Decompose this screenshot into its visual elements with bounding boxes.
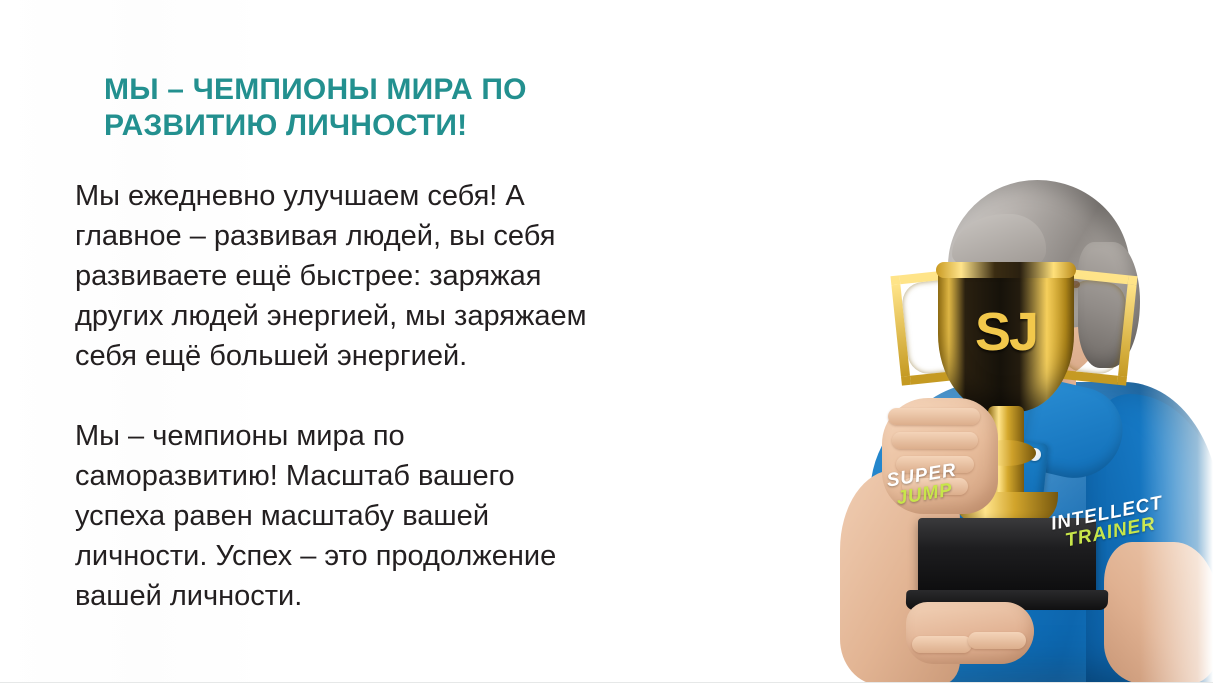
finger-5 [912, 636, 972, 653]
slide-title: МЫ – ЧЕМПИОНЫ МИРА ПО РАЗВИТИЮ ЛИЧНОСТИ! [104, 72, 704, 144]
body-paragraph-2: Мы – чемпионы мира по саморазвитию! Масш… [75, 416, 715, 616]
lower-hand [906, 602, 1034, 664]
trophy-monogram: SJ [958, 300, 1054, 364]
right-arm [1104, 542, 1213, 683]
trophy-cup-rim [936, 262, 1076, 278]
body-paragraph-1: Мы ежедневно улучшаем себя! А главное – … [75, 176, 715, 376]
presentation-slide: МЫ – ЧЕМПИОНЫ МИРА ПО РАЗВИТИЮ ЛИЧНОСТИ!… [0, 0, 1213, 683]
woman-holding-trophy-photo: SJ SUPER JUMP [690, 0, 1213, 683]
finger-2 [892, 432, 978, 449]
finger-6 [968, 632, 1026, 649]
finger-1 [888, 408, 980, 425]
person-figure: SJ SUPER JUMP [840, 170, 1213, 683]
slide-body-text: Мы ежедневно улучшаем себя! А главное – … [75, 176, 715, 616]
